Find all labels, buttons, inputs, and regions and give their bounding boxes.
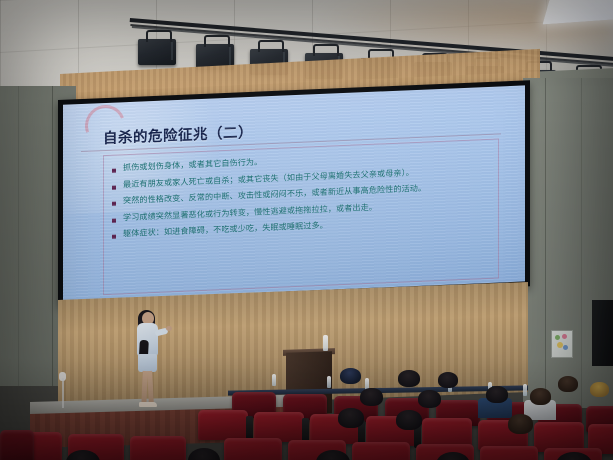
audience-head [188,448,220,460]
slide-content-box: 抓伤或划伤身体，或者其它自伤行为。 最近有朋友或家人死亡或自杀；或其它丧失（如由… [103,139,499,296]
audience-head [558,376,578,392]
audience-head [398,370,420,387]
water-bottle [272,374,276,386]
seat [130,436,186,460]
audience-head [418,390,441,408]
audience-head [486,386,508,403]
slide-surface: 自杀的危险征兆（二） 抓伤或划伤身体，或者其它自伤行为。 最近有朋友或家人死亡或… [63,85,525,300]
water-bottle [327,376,331,388]
audience-head [338,408,364,428]
slide-bullet-text: 抓伤或划伤身体，或者其它自伤行为。 [123,157,262,173]
stage-light [138,39,176,65]
seat [352,442,410,460]
slide-bullet-text: 躯体症状：如进食障碍，不吃或少吃，失眠或睡眠过多。 [123,221,328,240]
audience-head [508,414,533,434]
seat [198,410,248,440]
seat [480,446,538,460]
audience-head [438,372,458,388]
led-screen: 自杀的危险征兆（二） 抓伤或划伤身体，或者其它自伤行为。 最近有朋友或家人死亡或… [58,80,530,306]
audience-head [590,382,609,397]
bullet-square-icon [112,235,116,239]
lecture-hall-photo: 自杀的危险征兆（二） 抓伤或划伤身体，或者其它自伤行为。 最近有朋友或家人死亡或… [0,0,613,460]
seat [0,430,34,460]
audience-head [340,368,361,384]
bullet-square-icon [112,202,116,206]
water-bottle [523,384,527,396]
audience-seating [0,352,613,460]
seat [224,438,282,460]
bullet-square-icon [112,185,116,189]
bullet-square-icon [112,218,116,222]
audience-head [396,410,422,430]
audience-head [530,388,551,405]
bullet-square-icon [112,169,116,173]
water-bottle [323,335,328,351]
audience-head [360,388,383,406]
presenter-hand [166,326,172,331]
